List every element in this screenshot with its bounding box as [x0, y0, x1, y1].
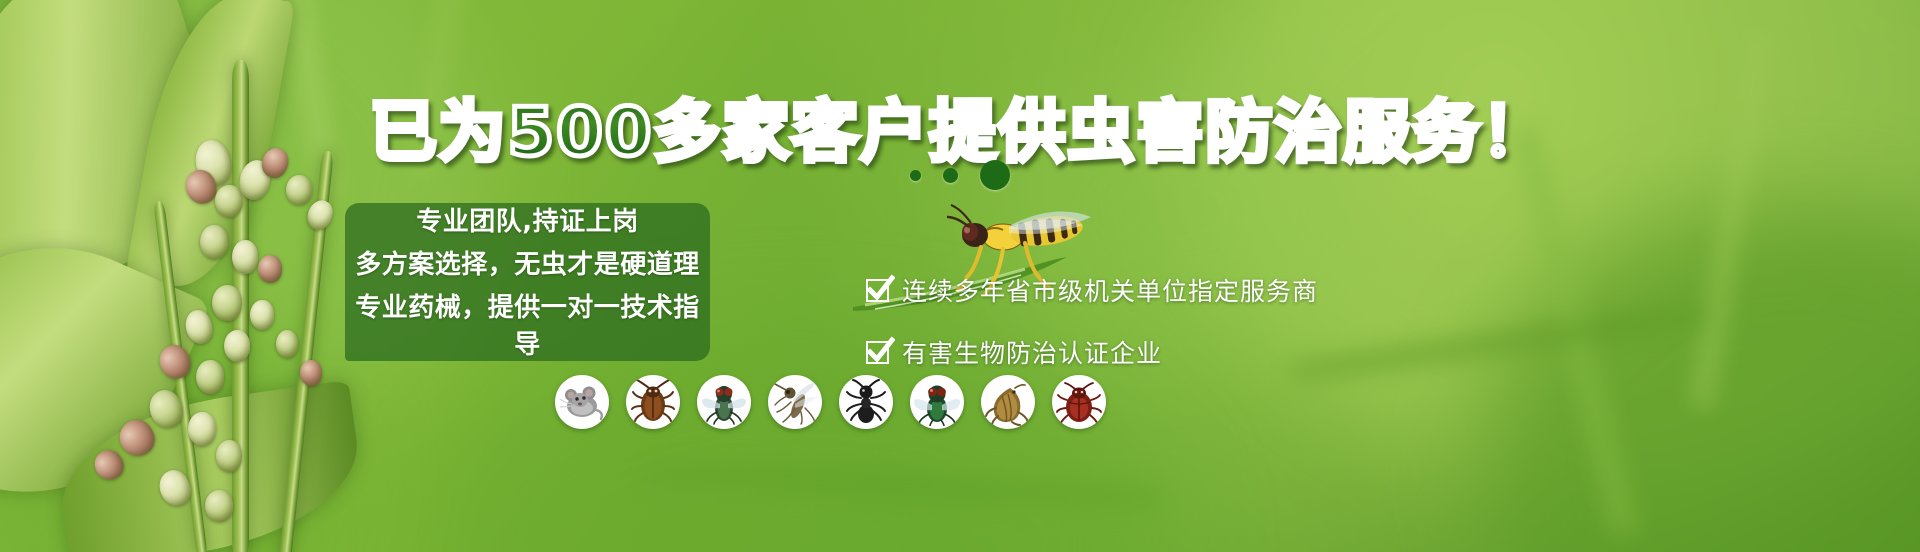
checkbox-checked-icon [866, 341, 889, 364]
credential-item: 有害生物防治认证企业 [866, 334, 1318, 370]
ant-icon[interactable] [839, 375, 893, 429]
plant-bud [212, 285, 242, 321]
plant-bud [205, 490, 233, 522]
service-claim-line: 多方案选择，无虫才是硬道理 [345, 244, 710, 281]
pest-control-hero-banner: 已为500多家客户提供虫害防治服务！ 专业团队,持证上岗 多方案选择，无虫才是硬… [0, 0, 1920, 552]
plant-bud [200, 225, 228, 259]
flea-icon[interactable] [981, 375, 1035, 429]
mouse-icon[interactable] [555, 375, 609, 429]
credential-text: 连续多年省市级机关单位指定服务商 [902, 272, 1318, 308]
divider-dot-icon [910, 170, 921, 181]
service-claim-line: 专业药械，提供一对一技术指导 [345, 287, 710, 361]
plant-bud [300, 360, 322, 386]
mosquito-icon[interactable] [768, 375, 822, 429]
plant-bud [188, 412, 216, 446]
plant-bud [216, 440, 242, 472]
credentials-list: 连续多年省市级机关单位指定服务商 有害生物防治认证企业 [866, 272, 1318, 370]
credential-text: 有害生物防治认证企业 [902, 334, 1162, 370]
credential-item: 连续多年省市级机关单位指定服务商 [866, 272, 1318, 308]
plant-bud [232, 240, 258, 274]
blowfly-icon[interactable] [910, 375, 964, 429]
plant-bud [276, 330, 298, 358]
service-claim-line: 专业团队,持证上岗 [345, 201, 710, 238]
service-claims-panel: 专业团队,持证上岗 多方案选择，无虫才是硬道理 专业药械，提供一对一技术指导 [345, 203, 710, 361]
bedbug-icon[interactable] [1052, 375, 1106, 429]
plant-bud [224, 330, 250, 362]
checkbox-checked-icon [866, 279, 889, 302]
plant-bud [258, 255, 282, 283]
divider-dot-icon [980, 160, 1010, 190]
plant-bud [196, 360, 224, 394]
housefly-icon[interactable] [697, 375, 751, 429]
plant-bud [250, 300, 274, 330]
headline-dot-divider [0, 160, 1920, 190]
pest-icon-row [555, 375, 1106, 429]
cockroach-icon[interactable] [626, 375, 680, 429]
plant-bud [303, 197, 336, 234]
divider-dot-icon [943, 168, 958, 183]
